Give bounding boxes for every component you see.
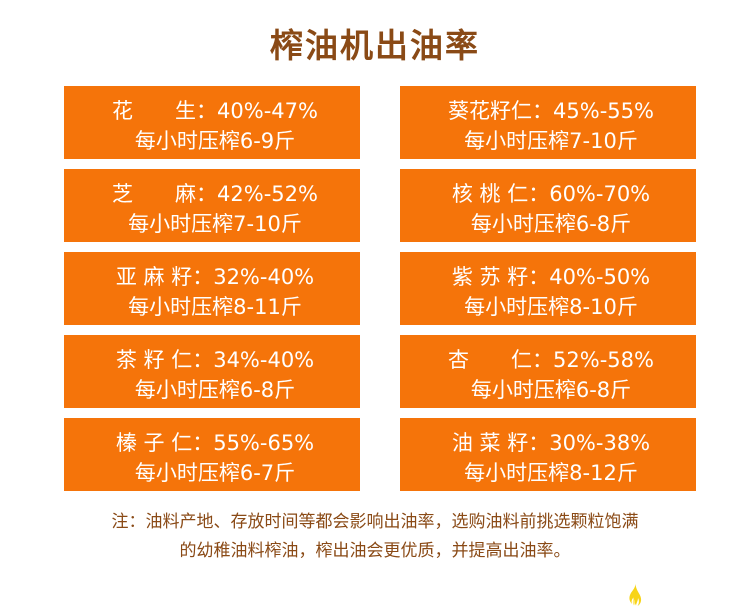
yield-card-rapeseed: 油 菜 籽：30%-38% 每小时压榨8-12斤: [400, 418, 696, 491]
yield-rate-text: 杏 仁：52%-58%: [400, 345, 696, 375]
yield-card-flaxseed: 亚 麻 籽：32%-40% 每小时压榨8-11斤: [64, 252, 360, 325]
yield-card-perilla-seed: 紫 苏 籽：40%-50% 每小时压榨8-10斤: [400, 252, 696, 325]
yield-card-sesame: 芝 麻：42%-52% 每小时压榨7-10斤: [64, 169, 360, 242]
yield-card-apricot-kernel: 杏 仁：52%-58% 每小时压榨6-8斤: [400, 335, 696, 408]
yield-rate-text: 茶 籽 仁：34%-40%: [64, 345, 360, 375]
yield-rate-text: 榛 子 仁：55%-65%: [64, 428, 360, 458]
yield-card-tea-seed-kernel: 茶 籽 仁：34%-40% 每小时压榨6-8斤: [64, 335, 360, 408]
yield-capacity-text: 每小时压榨8-10斤: [400, 292, 696, 322]
yield-card-walnut-kernel: 核 桃 仁：60%-70% 每小时压榨6-8斤: [400, 169, 696, 242]
yield-rate-text: 核 桃 仁：60%-70%: [400, 179, 696, 209]
flame-icon: [622, 583, 646, 613]
yield-card-peanut: 花 生：40%-47% 每小时压榨6-9斤: [64, 86, 360, 159]
yield-capacity-text: 每小时压榨8-12斤: [400, 458, 696, 488]
table-row: 亚 麻 籽：32%-40% 每小时压榨8-11斤 紫 苏 籽：40%-50% 每…: [64, 252, 696, 325]
table-row: 榛 子 仁：55%-65% 每小时压榨6-7斤 油 菜 籽：30%-38% 每小…: [64, 418, 696, 491]
yield-capacity-text: 每小时压榨7-10斤: [400, 126, 696, 156]
table-row: 茶 籽 仁：34%-40% 每小时压榨6-8斤 杏 仁：52%-58% 每小时压…: [64, 335, 696, 408]
yield-rate-text: 芝 麻：42%-52%: [64, 179, 360, 209]
oil-yield-infographic: 榨油机出油率 花 生：40%-47% 每小时压榨6-9斤 葵花籽仁：45%-55…: [0, 0, 750, 613]
yield-capacity-text: 每小时压榨6-8斤: [400, 209, 696, 239]
yield-capacity-text: 每小时压榨6-7斤: [64, 458, 360, 488]
yield-capacity-text: 每小时压榨6-8斤: [400, 375, 696, 405]
footnote-line-1: 注：油料产地、存放时间等都会影响出油率，选购油料前挑选颗粒饱满: [60, 508, 690, 537]
yield-rate-text: 紫 苏 籽：40%-50%: [400, 262, 696, 292]
yield-rate-text: 花 生：40%-47%: [64, 96, 360, 126]
yield-card-sunflower-kernel: 葵花籽仁：45%-55% 每小时压榨7-10斤: [400, 86, 696, 159]
yield-capacity-text: 每小时压榨8-11斤: [64, 292, 360, 322]
yield-rate-text: 油 菜 籽：30%-38%: [400, 428, 696, 458]
table-row: 芝 麻：42%-52% 每小时压榨7-10斤 核 桃 仁：60%-70% 每小时…: [64, 169, 696, 242]
footnote: 注：油料产地、存放时间等都会影响出油率，选购油料前挑选颗粒饱满 的幼稚油料榨油，…: [60, 508, 690, 566]
page-title: 榨油机出油率: [0, 26, 750, 66]
oil-yield-table: 花 生：40%-47% 每小时压榨6-9斤 葵花籽仁：45%-55% 每小时压榨…: [64, 86, 696, 501]
yield-capacity-text: 每小时压榨7-10斤: [64, 209, 360, 239]
footnote-line-2: 的幼稚油料榨油，榨出油会更优质，并提高出油率。: [60, 537, 690, 566]
table-row: 花 生：40%-47% 每小时压榨6-9斤 葵花籽仁：45%-55% 每小时压榨…: [64, 86, 696, 159]
yield-capacity-text: 每小时压榨6-8斤: [64, 375, 360, 405]
yield-capacity-text: 每小时压榨6-9斤: [64, 126, 360, 156]
yield-rate-text: 亚 麻 籽：32%-40%: [64, 262, 360, 292]
yield-card-hazelnut-kernel: 榛 子 仁：55%-65% 每小时压榨6-7斤: [64, 418, 360, 491]
yield-rate-text: 葵花籽仁：45%-55%: [400, 96, 696, 126]
